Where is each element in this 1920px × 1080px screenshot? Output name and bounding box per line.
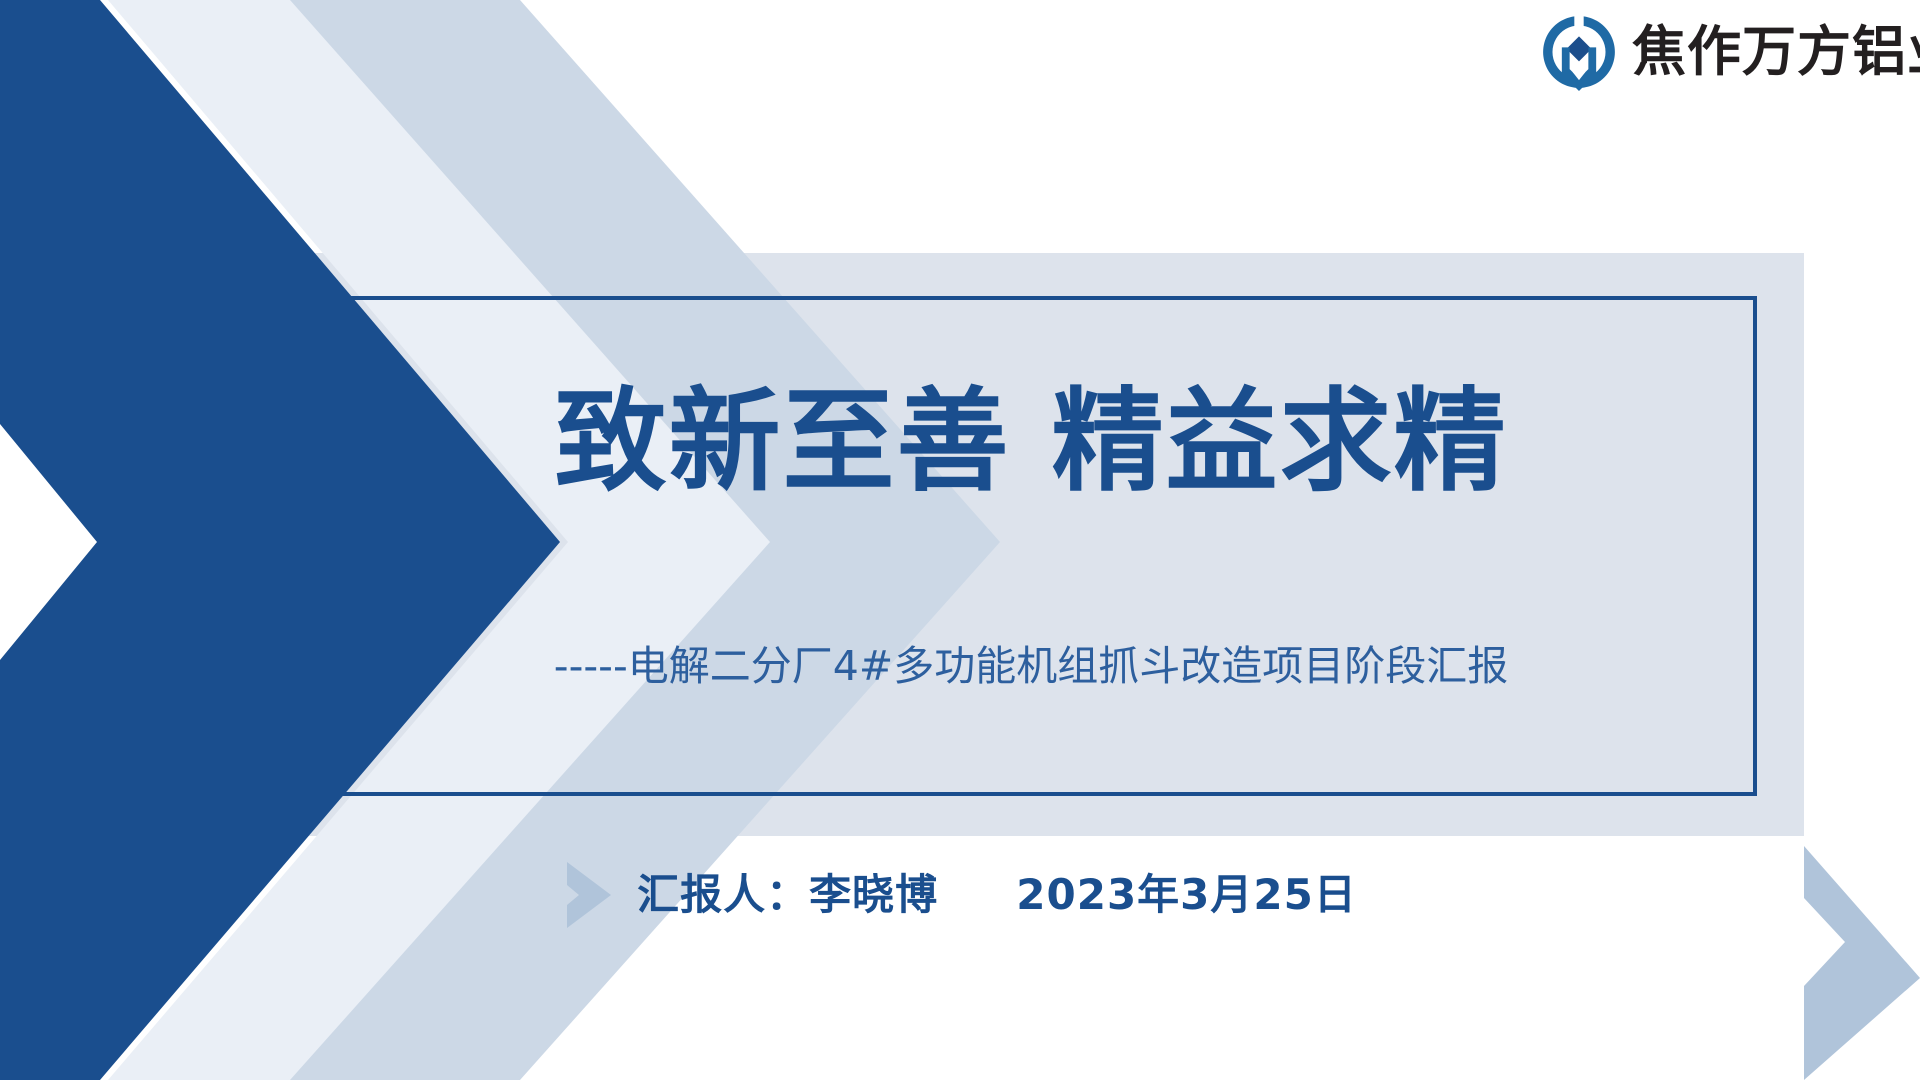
presenter-line: 汇报人：李晓博 2023年3月25日 <box>0 862 1920 928</box>
brand-logo: 焦作万方铝业 <box>1540 6 1920 98</box>
presenter-text: 汇报人：李晓博 2023年3月25日 <box>637 874 1357 916</box>
title-frame-border <box>305 296 1757 796</box>
company-logo-icon <box>1540 13 1618 91</box>
chevron-right-icon <box>563 862 611 928</box>
page-title: 致新至善 精益求精 <box>305 378 1757 507</box>
page-subtitle: -----电解二分厂4#多功能机组抓斗改造项目阶段汇报 <box>305 640 1757 693</box>
brand-wordmark: 焦作万方铝业 <box>1632 25 1920 79</box>
presentation-slide: 焦作万方铝业 致新至善 精益求精 -----电解二分厂4#多功能机组抓斗改造项目… <box>0 0 1920 1080</box>
